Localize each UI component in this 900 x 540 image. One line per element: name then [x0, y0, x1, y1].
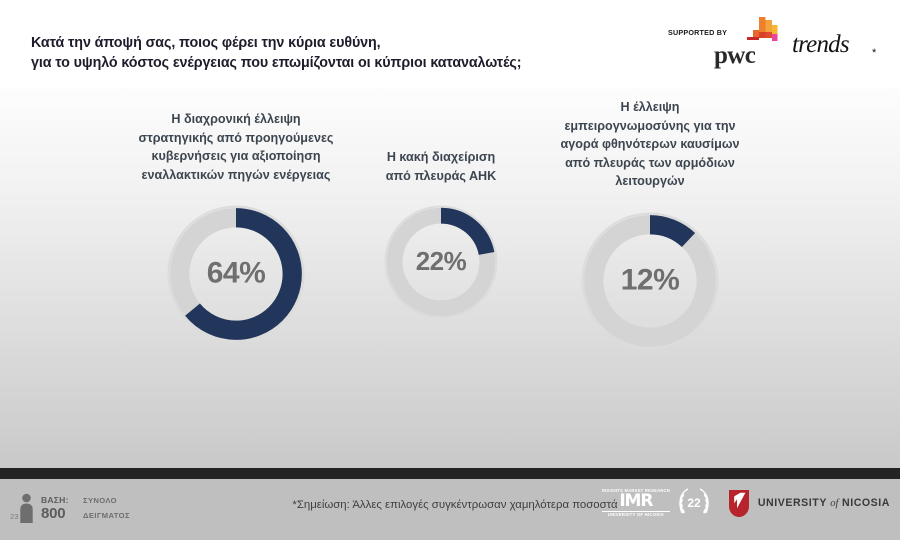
content-panel: Η διαχρονική έλλειψη στρατηγικής από προ…: [0, 88, 900, 468]
pwc-logo: SUPPORTED BY pwc: [668, 14, 788, 70]
unic-word-nicosia: NICOSIA: [842, 497, 890, 509]
donut-ring-1: 64%: [162, 200, 310, 348]
laurel-wreath-icon: 22: [674, 485, 714, 521]
supported-by-label: SUPPORTED BY: [668, 28, 727, 37]
donut-label-3-line-3: αγορά φθηνότερων καυσίμων: [520, 135, 780, 154]
slide-canvas: Κατά την άποψή σας, ποιος φέρει την κύρι…: [0, 0, 900, 540]
title-line-2: για το υψηλό κόστος ενέργειας που επωμίζ…: [31, 53, 521, 73]
imr-wordmark: IMR: [600, 493, 672, 511]
trends-logo: trends *: [788, 14, 884, 70]
donut-ring-2: 22%: [380, 201, 502, 323]
wreath-year-number: 22: [687, 496, 701, 510]
footer-logo-group: INSIGHTS MARKET RESEARCH IMR UNIVERSITY …: [600, 482, 890, 524]
imr-logo: INSIGHTS MARKET RESEARCH IMR UNIVERSITY …: [600, 485, 672, 521]
pwc-wordmark: pwc: [714, 42, 755, 70]
unic-wordmark: UNIVERSITY of NICOSIA: [758, 497, 890, 509]
base-sub-line-2: ΔΕΙΓΜΑΤΟΣ: [83, 511, 130, 520]
trends-wordmark: trends: [792, 31, 849, 59]
slide-header: Κατά την άποψή σας, ποιος φέρει την κύρι…: [0, 0, 900, 88]
unic-word-university: UNIVERSITY: [758, 497, 827, 509]
donut-label-3: Η έλλειψη εμπειρογνωμοσύνης για την αγορ…: [520, 98, 780, 191]
brand-logos: SUPPORTED BY pwc trends *: [668, 14, 884, 72]
page-title: Κατά την άποψή σας, ποιος φέρει την κύρι…: [31, 33, 521, 74]
imr-affiliation: UNIVERSITY OF NICOSIA: [602, 511, 670, 518]
donut-value-3: 12%: [576, 263, 724, 297]
donut-chart-group: Η διαχρονική έλλειψη στρατηγικής από προ…: [0, 88, 900, 468]
donut-card-3: Η έλλειψη εμπειρογνωμοσύνης για την αγορ…: [520, 98, 780, 355]
divider-bar: [0, 468, 900, 479]
donut-label-3-line-1: Η έλλειψη: [520, 98, 780, 117]
unic-shield-icon: [728, 489, 750, 517]
donut-ring-3: 12%: [576, 207, 724, 355]
unic-word-of: of: [830, 498, 838, 509]
donut-value-1: 64%: [162, 256, 310, 290]
donut-label-1-line-1: Η διαχρονική έλλειψη: [106, 110, 366, 129]
donut-label-3-line-2: εμπειρογνωμοσύνης για την: [520, 117, 780, 136]
donut-label-3-line-5: λειτουργών: [520, 172, 780, 191]
donut-label-3-line-4: από πλευράς των αρμόδιων: [520, 154, 780, 173]
university-of-nicosia-logo: UNIVERSITY of NICOSIA: [728, 489, 890, 517]
donut-value-2: 22%: [380, 246, 502, 277]
donut-label-1-line-2: στρατηγικής από προηγούμενες: [106, 129, 366, 148]
slide-footer: 23 ΒΑΣΗ: ΣΥΝΟΛΟ 800 ΔΕΙΓΜΑΤΟΣ *Σημείωση:…: [0, 479, 900, 540]
title-line-1: Κατά την άποψή σας, ποιος φέρει την κύρι…: [31, 33, 521, 53]
trends-star-icon: *: [872, 47, 876, 59]
